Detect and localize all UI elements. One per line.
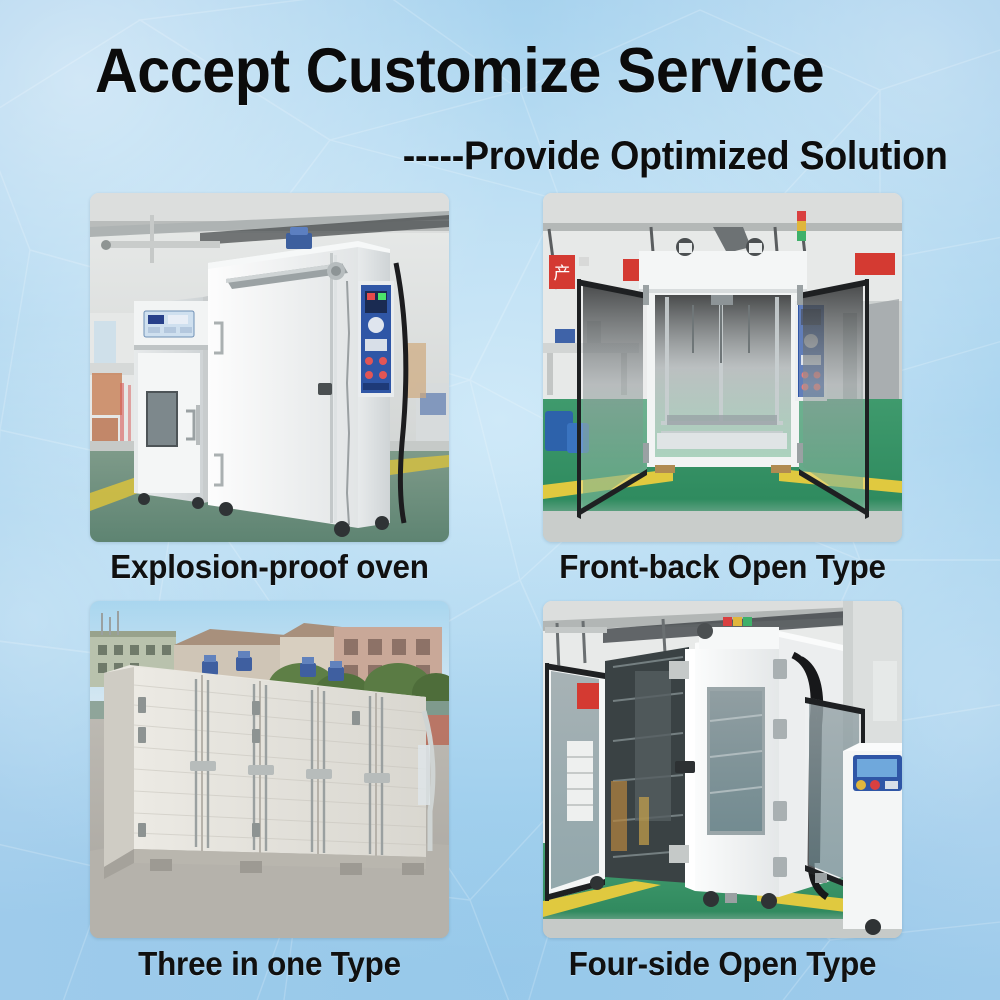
gallery-caption: Three in one Type <box>99 945 440 983</box>
product-gallery: Explosion-proof oven <box>90 193 905 938</box>
gallery-item-explosion-proof-oven[interactable]: Explosion-proof oven <box>90 193 449 542</box>
front-back-open-type-illustration: 产 <box>543 193 902 542</box>
page-title: Accept Customize Service <box>95 40 875 103</box>
four-side-open-type-photo[interactable] <box>543 601 902 938</box>
three-in-one-type-photo[interactable] <box>90 601 449 938</box>
gallery-caption: Front-back Open Type <box>552 548 893 586</box>
gallery-caption: Explosion-proof oven <box>99 548 440 586</box>
explosion-proof-oven-illustration <box>90 193 449 542</box>
four-side-open-type-illustration <box>543 601 902 938</box>
page-subtitle: -----Provide Optimized Solution <box>403 136 948 176</box>
gallery-item-three-in-one-type[interactable]: Three in one Type <box>90 601 449 938</box>
svg-text:产: 产 <box>554 264 571 284</box>
gallery-item-four-side-open-type[interactable]: Four-side Open Type <box>543 601 902 938</box>
front-back-open-type-photo[interactable]: 产 <box>543 193 902 542</box>
explosion-proof-oven-photo[interactable] <box>90 193 449 542</box>
gallery-item-front-back-open-type[interactable]: 产 <box>543 193 902 542</box>
gallery-caption: Four-side Open Type <box>552 945 893 983</box>
three-in-one-type-illustration <box>90 601 449 938</box>
